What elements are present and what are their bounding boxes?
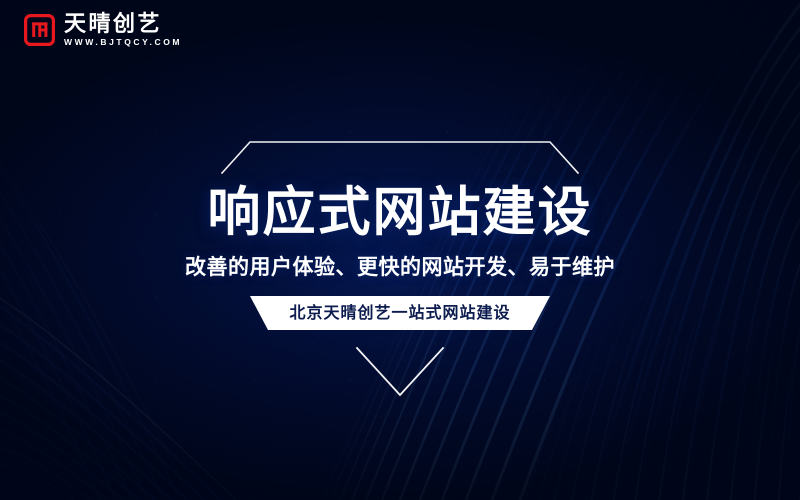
tianqing-chuangyi-logo-mark <box>24 14 55 46</box>
logo-website-url: WWW.BJTQCY.COM <box>64 38 182 47</box>
brand-logo[interactable]: 天晴创艺 WWW.BJTQCY.COM <box>24 14 182 47</box>
hero-banner: 天晴创艺 WWW.BJTQCY.COM 响应式网站建设 改善的用户体验、更快的网… <box>0 0 800 500</box>
hero-content: 响应式网站建设 改善的用户体验、更快的网站开发、易于维护 北京天晴创艺一站式网站… <box>0 140 800 398</box>
logo-company-name: 天晴创艺 <box>64 14 182 36</box>
page-subtitle: 改善的用户体验、更快的网站开发、易于维护 <box>185 257 615 278</box>
chevron-down-icon <box>355 346 445 398</box>
page-title: 响应式网站建设 <box>208 186 593 239</box>
ribbon-banner: 北京天晴创艺一站式网站建设 <box>250 296 550 330</box>
ribbon-label: 北京天晴创艺一站式网站建设 <box>289 305 510 321</box>
bracket-chevron-up-icon <box>220 140 580 174</box>
